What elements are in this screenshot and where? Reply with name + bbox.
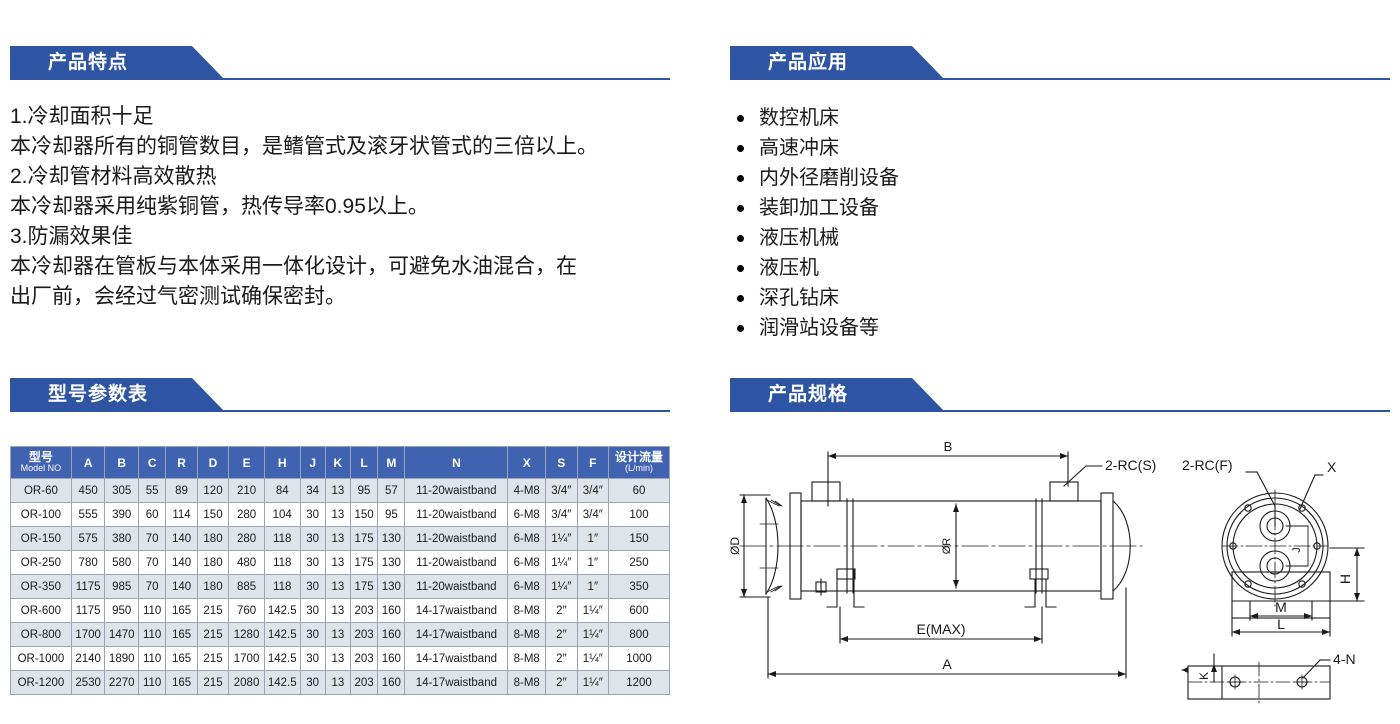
application-list-item: 装卸加工设备 xyxy=(733,193,899,223)
table-cell: 2530 xyxy=(71,671,105,695)
table-cell: 60 xyxy=(609,479,670,503)
table-cell: 6-M8 xyxy=(508,503,546,527)
table-cell: 30 xyxy=(300,623,325,647)
table-cell: 13 xyxy=(325,503,350,527)
model-parameter-table: 型号Model NOABCRDEHJKLMNXSF设计流量(L/min) OR-… xyxy=(10,446,670,695)
table-row: OR-6001175950110165215760142.53013203160… xyxy=(11,599,670,623)
table-header-cell: E xyxy=(229,447,265,479)
specification-banner-title: 产品规格 xyxy=(768,384,848,406)
table-cell: 14-17waistband xyxy=(405,599,508,623)
table-header-label: J xyxy=(309,456,316,470)
table-cell: 104 xyxy=(264,503,300,527)
table-cell: 110 xyxy=(139,647,166,671)
table-cell: 203 xyxy=(350,671,377,695)
table-cell: 13 xyxy=(325,551,350,575)
table-cell: 8-M8 xyxy=(508,671,546,695)
table-header-cell: S xyxy=(546,447,577,479)
specification-banner: 产品规格 xyxy=(730,378,1390,412)
table-cell: 8-M8 xyxy=(508,623,546,647)
table-cell: 95 xyxy=(378,503,405,527)
table-cell: 985 xyxy=(105,575,139,599)
table-cell: 215 xyxy=(197,671,228,695)
table-header-cell: X xyxy=(508,447,546,479)
leader-x xyxy=(1300,475,1323,509)
table-cell: 575 xyxy=(71,527,105,551)
table-cell: 140 xyxy=(166,551,197,575)
table-cell: 3/4″ xyxy=(577,479,608,503)
model-table-banner-rule xyxy=(10,410,670,412)
table-cell: 13 xyxy=(325,671,350,695)
table-header-label: R xyxy=(177,456,186,470)
table-cell: 11-20waistband xyxy=(405,575,508,599)
table-header-label: D xyxy=(209,456,218,470)
features-banner-title: 产品特点 xyxy=(48,52,128,74)
table-cell: 885 xyxy=(229,575,265,599)
table-cell: 180 xyxy=(197,527,228,551)
table-cell-model: OR-600 xyxy=(11,599,72,623)
leader-rc-s xyxy=(1064,466,1102,486)
table-cell: 3/4″ xyxy=(546,479,577,503)
drawing-label-j: J xyxy=(1291,547,1303,553)
table-cell: 30 xyxy=(300,527,325,551)
table-cell: 1280 xyxy=(229,623,265,647)
table-cell: 95 xyxy=(350,479,377,503)
table-cell: 114 xyxy=(166,503,197,527)
table-header-sublabel: (L/min) xyxy=(610,463,668,474)
table-cell: 110 xyxy=(139,623,166,647)
table-cell: 215 xyxy=(197,599,228,623)
drawing-label-e-max: E(MAX) xyxy=(917,621,966,637)
leader-4n xyxy=(1303,660,1330,678)
table-header-label: E xyxy=(243,456,251,470)
table-cell: 760 xyxy=(229,599,265,623)
table-cell: 1″ xyxy=(577,551,608,575)
table-header-cell: K xyxy=(325,447,350,479)
table-cell: 1¼″ xyxy=(546,527,577,551)
table-cell: 30 xyxy=(300,575,325,599)
table-cell: 6-M8 xyxy=(508,575,546,599)
table-header-label: F xyxy=(589,456,596,470)
table-cell: 280 xyxy=(229,503,265,527)
side-view-feet xyxy=(827,569,1056,607)
table-cell: 110 xyxy=(139,599,166,623)
table-cell: 100 xyxy=(609,503,670,527)
table-cell: 30 xyxy=(300,647,325,671)
application-list-item: 内外径磨削设备 xyxy=(733,163,899,193)
table-cell: 6-M8 xyxy=(508,551,546,575)
table-cell: 60 xyxy=(139,503,166,527)
table-cell: 70 xyxy=(139,551,166,575)
table-cell: 130 xyxy=(378,551,405,575)
table-header-cell: C xyxy=(139,447,166,479)
table-cell: 350 xyxy=(609,575,670,599)
table-cell: 1470 xyxy=(105,623,139,647)
table-header-label: K xyxy=(334,456,343,470)
table-header-cell: B xyxy=(105,447,139,479)
table-cell: 13 xyxy=(325,599,350,623)
table-cell: 120 xyxy=(197,479,228,503)
applications-banner-rule xyxy=(730,78,1390,80)
table-cell: 2080 xyxy=(229,671,265,695)
model-table-banner-title: 型号参数表 xyxy=(48,384,148,406)
drawing-label-m: M xyxy=(1275,599,1287,615)
model-table-banner: 型号参数表 xyxy=(10,378,670,412)
table-cell: 30 xyxy=(300,671,325,695)
table-cell: 800 xyxy=(609,623,670,647)
table-header-label: 型号 xyxy=(29,450,53,464)
table-cell: 175 xyxy=(350,551,377,575)
table-header-label: S xyxy=(557,456,565,470)
drawing-label-x: X xyxy=(1327,459,1337,475)
table-cell: 160 xyxy=(378,671,405,695)
table-cell: 175 xyxy=(350,575,377,599)
table-header-cell: N xyxy=(405,447,508,479)
table-cell: 140 xyxy=(166,527,197,551)
table-header-sublabel: Model NO xyxy=(12,463,70,474)
drawing-label-a: A xyxy=(942,656,952,672)
table-cell: 950 xyxy=(105,599,139,623)
applications-banner: 产品应用 xyxy=(730,46,1390,80)
application-list-item: 液压机 xyxy=(733,253,899,283)
table-cell: 450 xyxy=(71,479,105,503)
dim-b xyxy=(828,452,1068,506)
table-cell: 14-17waistband xyxy=(405,623,508,647)
table-cell: 130 xyxy=(378,575,405,599)
table-cell: 2270 xyxy=(105,671,139,695)
table-cell: 1890 xyxy=(105,647,139,671)
table-header-label: N xyxy=(452,456,461,470)
product-datasheet-page: 产品特点 1.冷却面积十足 本冷却器所有的铜管数目，是鳍管式及滚牙状管式的三倍以… xyxy=(0,0,1400,724)
table-cell: 89 xyxy=(166,479,197,503)
table-cell: 203 xyxy=(350,647,377,671)
table-cell: 150 xyxy=(197,503,228,527)
table-cell: 2″ xyxy=(546,599,577,623)
table-cell: 118 xyxy=(264,575,300,599)
application-list-item: 润滑站设备等 xyxy=(733,313,899,343)
table-cell: 8-M8 xyxy=(508,599,546,623)
table-cell: 70 xyxy=(139,527,166,551)
table-cell: 11-20waistband xyxy=(405,479,508,503)
application-list-item: 高速冲床 xyxy=(733,133,899,163)
section-product-features: 产品特点 xyxy=(10,46,670,80)
applications-banner-title: 产品应用 xyxy=(768,52,848,74)
table-cell: 160 xyxy=(378,647,405,671)
table-cell: 140 xyxy=(166,575,197,599)
table-cell: 130 xyxy=(378,527,405,551)
drawing-label-rc-s: 2-RC(S) xyxy=(1105,457,1156,473)
table-cell: 1175 xyxy=(71,599,105,623)
table-cell: 142.5 xyxy=(264,623,300,647)
application-list-item: 数控机床 xyxy=(733,103,899,133)
table-cell: 175 xyxy=(350,527,377,551)
table-cell: 30 xyxy=(300,551,325,575)
table-cell-model: OR-60 xyxy=(11,479,72,503)
table-cell: 70 xyxy=(139,575,166,599)
table-cell: 3/4″ xyxy=(577,503,608,527)
table-row: OR-604503055589120210843413955711-20wais… xyxy=(11,479,670,503)
table-row: OR-25078058070140180480118301317513011-2… xyxy=(11,551,670,575)
table-cell: 180 xyxy=(197,575,228,599)
table-cell-model: OR-1000 xyxy=(11,647,72,671)
drawing-label-k: K xyxy=(1197,672,1211,680)
table-cell: 480 xyxy=(229,551,265,575)
features-banner-rule xyxy=(10,78,670,80)
table-cell: 780 xyxy=(71,551,105,575)
side-view-nozzles xyxy=(812,482,1078,501)
table-cell: 8-M8 xyxy=(508,647,546,671)
table-row: OR-800170014701101652151280142.530132031… xyxy=(11,623,670,647)
table-cell: 580 xyxy=(105,551,139,575)
section-product-applications: 产品应用 xyxy=(730,46,1390,80)
table-header-label: A xyxy=(84,456,93,470)
table-row: OR-15057538070140180280118301317513011-2… xyxy=(11,527,670,551)
application-list-item: 深孔钻床 xyxy=(733,283,899,313)
table-cell: 13 xyxy=(325,647,350,671)
table-cell: 555 xyxy=(71,503,105,527)
table-cell: 13 xyxy=(325,575,350,599)
table-cell: 215 xyxy=(197,647,228,671)
table-cell: 1¼″ xyxy=(577,599,608,623)
table-cell: 84 xyxy=(264,479,300,503)
table-cell: 1700 xyxy=(229,647,265,671)
table-cell: 142.5 xyxy=(264,671,300,695)
table-cell: 380 xyxy=(105,527,139,551)
table-header-cell: R xyxy=(166,447,197,479)
table-cell: 11-20waistband xyxy=(405,527,508,551)
features-banner: 产品特点 xyxy=(10,46,670,80)
table-cell-model: OR-800 xyxy=(11,623,72,647)
table-cell: 14-17waistband xyxy=(405,671,508,695)
table-header-label: H xyxy=(278,456,287,470)
table-cell-model: OR-1200 xyxy=(11,671,72,695)
drawing-label-l: L xyxy=(1277,616,1285,632)
table-cell: 165 xyxy=(166,671,197,695)
table-cell: 180 xyxy=(197,551,228,575)
table-header-cell: J xyxy=(300,447,325,479)
table-header-cell: M xyxy=(378,447,405,479)
table-cell: 30 xyxy=(300,599,325,623)
table-cell: 4-M8 xyxy=(508,479,546,503)
table-cell: 165 xyxy=(166,623,197,647)
table-header-cell: L xyxy=(350,447,377,479)
table-header-cell: A xyxy=(71,447,105,479)
table-cell: 1700 xyxy=(71,623,105,647)
table-cell: 203 xyxy=(350,623,377,647)
table-header-cell: F xyxy=(577,447,608,479)
drawing-label-h: H xyxy=(1337,574,1353,584)
table-cell: 1¼″ xyxy=(546,575,577,599)
table-cell: 210 xyxy=(229,479,265,503)
table-cell: 1¼″ xyxy=(546,551,577,575)
table-header-label: M xyxy=(386,456,396,470)
table-cell-model: OR-350 xyxy=(11,575,72,599)
table-cell: 142.5 xyxy=(264,599,300,623)
table-cell: 280 xyxy=(229,527,265,551)
table-cell: 390 xyxy=(105,503,139,527)
table-header-row: 型号Model NOABCRDEHJKLMNXSF设计流量(L/min) xyxy=(11,447,670,479)
table-cell: 1000 xyxy=(609,647,670,671)
table-row: OR-1000214018901101652151700142.53013203… xyxy=(11,647,670,671)
table-cell: 2″ xyxy=(546,623,577,647)
table-cell: 55 xyxy=(139,479,166,503)
table-cell: 160 xyxy=(378,623,405,647)
table-header-label: B xyxy=(117,456,126,470)
drawing-label-b: B xyxy=(944,439,953,454)
table-header-label: C xyxy=(148,456,157,470)
table-cell: 1175 xyxy=(71,575,105,599)
drawing-label-rc-f: 2-RC(F) xyxy=(1182,457,1233,473)
table-cell: 305 xyxy=(105,479,139,503)
section-product-specification: 产品规格 xyxy=(730,378,1390,412)
drawing-label-4n: 4-N xyxy=(1333,651,1356,667)
table-header-cell: H xyxy=(264,447,300,479)
table-cell: 11-20waistband xyxy=(405,503,508,527)
table-cell: 2″ xyxy=(546,671,577,695)
table-cell: 110 xyxy=(139,671,166,695)
table-row: OR-1005553906011415028010430131509511-20… xyxy=(11,503,670,527)
table-cell: 1″ xyxy=(577,527,608,551)
table-cell: 13 xyxy=(325,623,350,647)
table-cell: 118 xyxy=(264,527,300,551)
table-row: OR-350117598570140180885118301317513011-… xyxy=(11,575,670,599)
table-cell: 250 xyxy=(609,551,670,575)
table-header-label: X xyxy=(523,456,531,470)
table-cell: 14-17waistband xyxy=(405,647,508,671)
table-cell: 57 xyxy=(378,479,405,503)
table-cell: 165 xyxy=(166,599,197,623)
table-cell: 215 xyxy=(197,623,228,647)
table-cell: 203 xyxy=(350,599,377,623)
table-cell-model: OR-250 xyxy=(11,551,72,575)
section-model-table: 型号参数表 xyxy=(10,378,670,412)
application-list-item: 液压机械 xyxy=(733,223,899,253)
features-body-text: 1.冷却面积十足 本冷却器所有的铜管数目，是鳍管式及滚牙状管式的三倍以上。 2.… xyxy=(10,102,680,312)
table-cell: 2″ xyxy=(546,647,577,671)
table-header-cell: 型号Model NO xyxy=(11,447,72,479)
table-header-label: L xyxy=(360,456,367,470)
table-cell-model: OR-100 xyxy=(11,503,72,527)
table-cell: 600 xyxy=(609,599,670,623)
table-cell: 11-20waistband xyxy=(405,551,508,575)
table-cell: 1200 xyxy=(609,671,670,695)
table-cell: 1¼″ xyxy=(577,647,608,671)
table-cell: 3/4″ xyxy=(546,503,577,527)
table-cell: 165 xyxy=(166,647,197,671)
table-header-cell: D xyxy=(197,447,228,479)
table-cell-model: OR-150 xyxy=(11,527,72,551)
table-cell: 1¼″ xyxy=(577,623,608,647)
table-header-label: 设计流量 xyxy=(615,450,663,464)
specification-banner-rule xyxy=(730,410,1390,412)
table-cell: 150 xyxy=(350,503,377,527)
table-cell: 118 xyxy=(264,551,300,575)
table-cell: 6-M8 xyxy=(508,527,546,551)
table-cell: 142.5 xyxy=(264,647,300,671)
table-cell: 13 xyxy=(325,479,350,503)
table-row: OR-1200253022701101652152080142.53013203… xyxy=(11,671,670,695)
applications-list: 数控机床高速冲床内外径磨削设备装卸加工设备液压机械液压机深孔钻床润滑站设备等 xyxy=(733,103,899,343)
table-header-cell: 设计流量(L/min) xyxy=(609,447,670,479)
drawing-label-phi-r: ØR xyxy=(941,538,953,555)
table-cell: 1″ xyxy=(577,575,608,599)
table-cell: 34 xyxy=(300,479,325,503)
table-cell: 2140 xyxy=(71,647,105,671)
table-cell: 30 xyxy=(300,503,325,527)
table-cell: 1¼″ xyxy=(577,671,608,695)
product-technical-drawing: B ØD xyxy=(730,438,1390,723)
table-cell: 13 xyxy=(325,527,350,551)
table-cell: 150 xyxy=(609,527,670,551)
table-cell: 160 xyxy=(378,599,405,623)
